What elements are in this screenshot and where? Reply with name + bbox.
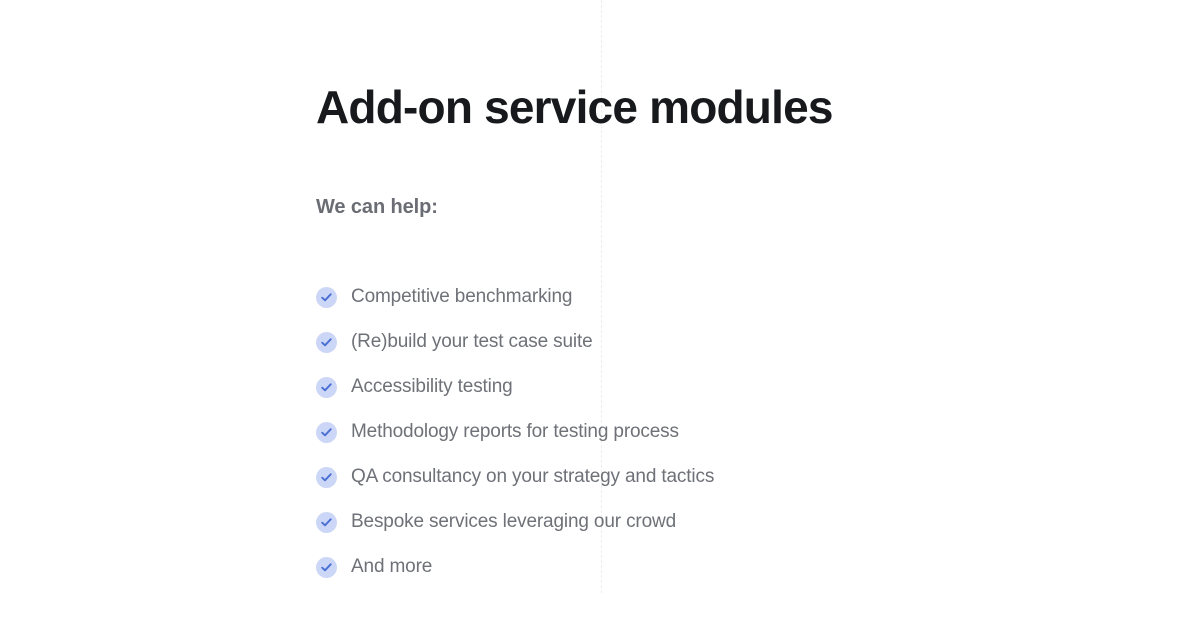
list-item-label: (Re)build your test case suite: [351, 331, 593, 354]
check-circle-icon: [316, 512, 337, 533]
check-circle-icon: [316, 287, 337, 308]
list-item: Accessibility testing: [316, 365, 714, 410]
check-circle-icon: [316, 557, 337, 578]
page-title: Add-on service modules: [316, 83, 833, 131]
list-item-label: Accessibility testing: [351, 376, 513, 399]
check-circle-icon: [316, 332, 337, 353]
list-item-label: QA consultancy on your strategy and tact…: [351, 466, 714, 489]
list-item: Bespoke services leveraging our crowd: [316, 500, 714, 545]
section-subheading: We can help:: [316, 195, 438, 219]
list-item: (Re)build your test case suite: [316, 320, 714, 365]
list-item: And more: [316, 545, 714, 590]
content-container: Add-on service modules We can help: Comp…: [316, 0, 1116, 630]
check-circle-icon: [316, 467, 337, 488]
list-item-label: Bespoke services leveraging our crowd: [351, 511, 676, 534]
check-circle-icon: [316, 377, 337, 398]
feature-list: Competitive benchmarking (Re)build your …: [316, 275, 714, 590]
check-circle-icon: [316, 422, 337, 443]
list-item: Methodology reports for testing process: [316, 410, 714, 455]
list-item-label: Competitive benchmarking: [351, 286, 572, 309]
list-item-label: Methodology reports for testing process: [351, 421, 679, 444]
list-item-label: And more: [351, 556, 432, 579]
list-item: QA consultancy on your strategy and tact…: [316, 455, 714, 500]
list-item: Competitive benchmarking: [316, 275, 714, 320]
